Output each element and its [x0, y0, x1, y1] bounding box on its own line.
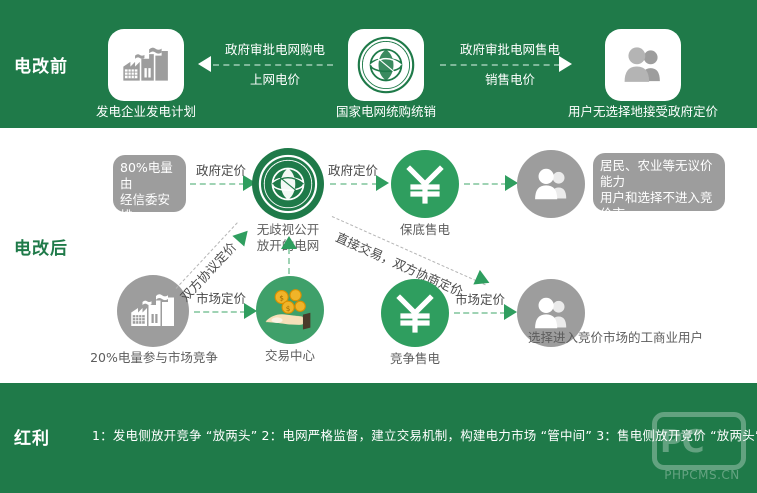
caption-state-grid: 国家电网统购统销 — [288, 104, 484, 120]
conn-gen-to-trade-line — [194, 311, 246, 313]
conn-grid-to-user-line — [440, 64, 560, 66]
node-trade-center: $ $ — [256, 276, 324, 344]
node-state-grid — [348, 29, 424, 101]
yen-icon — [394, 291, 436, 335]
conn-grid-to-gen-label-1: 政府审批电网购电 — [205, 42, 345, 59]
factory-icon — [129, 293, 177, 329]
node-end-user — [605, 29, 681, 101]
section-label-after: 电改后 — [14, 234, 68, 259]
hand-coins-icon: $ $ — [262, 285, 318, 335]
svg-text:$: $ — [279, 294, 284, 303]
conn-80-to-grid-label: 政府定价 — [186, 163, 256, 180]
yen-icon — [404, 162, 446, 206]
conn-grid-to-baseload-line — [330, 183, 378, 185]
node-baseload-sale — [391, 150, 459, 218]
users-icon — [620, 45, 666, 85]
caption-gen-market: 20%电量参与市场竞争 — [88, 350, 220, 366]
caption-trade-center: 交易中心 — [240, 348, 340, 364]
section-label-before: 电改前 — [14, 52, 68, 77]
state-grid-logo-icon — [357, 36, 415, 94]
caption-baseload-sale: 保底售电 — [375, 222, 475, 238]
caption-end-user: 用户无选择地接受政府定价 — [545, 104, 741, 120]
caption-competitive-sale: 竞争售电 — [365, 351, 465, 367]
conn-trade-to-grid-arrow — [281, 236, 297, 249]
conn-competitive-to-user-label: 市场定价 — [445, 292, 515, 309]
conn-baseload-to-user-line — [464, 183, 507, 185]
svg-text:$: $ — [286, 304, 291, 313]
node-grid-open — [252, 148, 324, 220]
conn-grid-to-user-label-1: 政府审批电网售电 — [440, 42, 580, 59]
callout-residential-users: 居民、农业等无议价能力 用户和选择不进入竞价市 场的用户 — [593, 153, 725, 211]
conn-80-to-grid-line — [190, 183, 245, 185]
diagram-canvas: 电改前 电改后 红利 发电企业发电计划 — [0, 0, 757, 493]
node-competitive-sale — [381, 279, 449, 347]
callout-80-percent: 80%电量由 经信委安排 生产 — [113, 155, 186, 212]
users-icon — [530, 295, 572, 331]
state-grid-logo-icon — [257, 153, 319, 215]
conn-trade-to-grid-line — [288, 248, 290, 274]
benefit-text: 1：发电侧放开竞争 “放两头” 2：电网严格监督，建立交易机制，构建电力市场 “… — [92, 425, 732, 444]
users-icon — [530, 166, 572, 202]
conn-grid-to-user-label-2: 销售电价 — [440, 72, 580, 89]
node-guaranteed-user — [517, 150, 585, 218]
caption-market-user: 选择进入竞价市场的工商业用户 — [528, 330, 748, 346]
conn-grid-to-gen-label-2: 上网电价 — [205, 72, 345, 89]
node-gen-plan — [108, 29, 184, 101]
conn-grid-to-baseload-label: 政府定价 — [318, 163, 388, 180]
factory-icon — [121, 46, 171, 84]
conn-competitive-to-user-line — [454, 312, 506, 314]
section-label-benefit: 红利 — [14, 424, 50, 449]
conn-grid-to-gen-line — [213, 64, 333, 66]
caption-gen-plan: 发电企业发电计划 — [48, 104, 244, 120]
